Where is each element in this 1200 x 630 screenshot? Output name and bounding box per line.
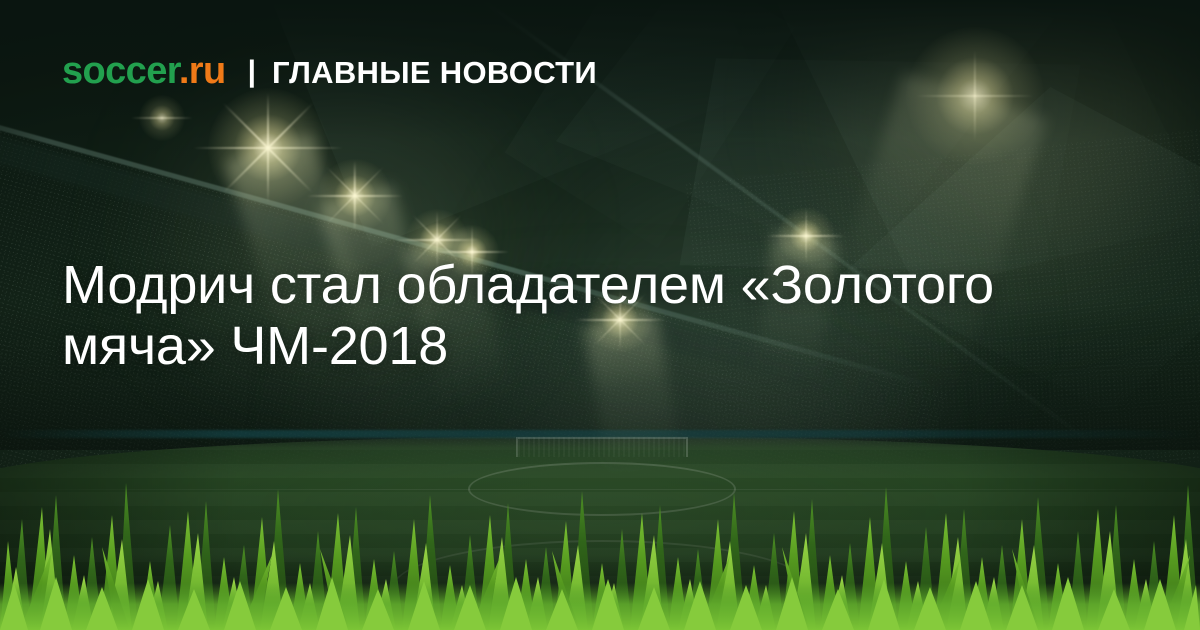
social-share-card: soccer.ru | ГЛАВНЫЕ НОВОСТИ Модрич стал …	[0, 0, 1200, 630]
site-header: soccer.ru | ГЛАВНЫЕ НОВОСТИ	[62, 52, 597, 90]
foreground-grass	[0, 455, 1200, 630]
page-title: Модрич стал обладателем «Золотого мяча» …	[62, 255, 1152, 377]
headline-line-1: Модрич стал обладателем «Золотого	[62, 255, 1152, 316]
headline-line-2: мяча» ЧМ-2018	[62, 316, 1152, 377]
logo-text-tld: .ru	[179, 50, 226, 92]
logo-text-main: soccer	[62, 50, 179, 92]
header-kicker-label: ГЛАВНЫЕ НОВОСТИ	[272, 57, 597, 88]
site-logo[interactable]: soccer.ru	[62, 52, 226, 90]
header-separator: |	[248, 57, 256, 87]
